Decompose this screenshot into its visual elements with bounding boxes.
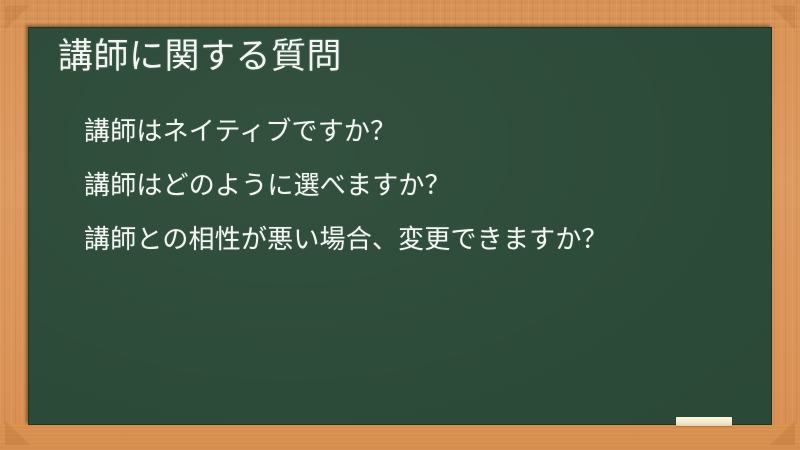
chalk-icon [676, 417, 732, 426]
frame-miter-top-left [5, 5, 30, 30]
frame-miter-top-right [770, 5, 795, 30]
list-item: 講師との相性が悪い場合、変更できますか？ [84, 213, 764, 267]
frame-miter-bottom-right [770, 420, 795, 445]
chalkboard-slide: 講師に関する質問 講師はネイティブですか？ 講師はどのように選べますか？ 講師と… [0, 0, 800, 450]
list-item: 講師はネイティブですか？ [84, 105, 764, 159]
page-title: 講師に関する質問 [58, 33, 342, 81]
frame-miter-bottom-left [5, 420, 30, 445]
frame-bottom-ledge [0, 424, 800, 450]
chalkboard-surface: 講師に関する質問 講師はネイティブですか？ 講師はどのように選べますか？ 講師と… [28, 27, 772, 425]
question-list: 講師はネイティブですか？ 講師はどのように選べますか？ 講師との相性が悪い場合、… [84, 105, 764, 267]
list-item: 講師はどのように選べますか？ [84, 159, 764, 213]
frame-top-rail [0, 0, 800, 30]
